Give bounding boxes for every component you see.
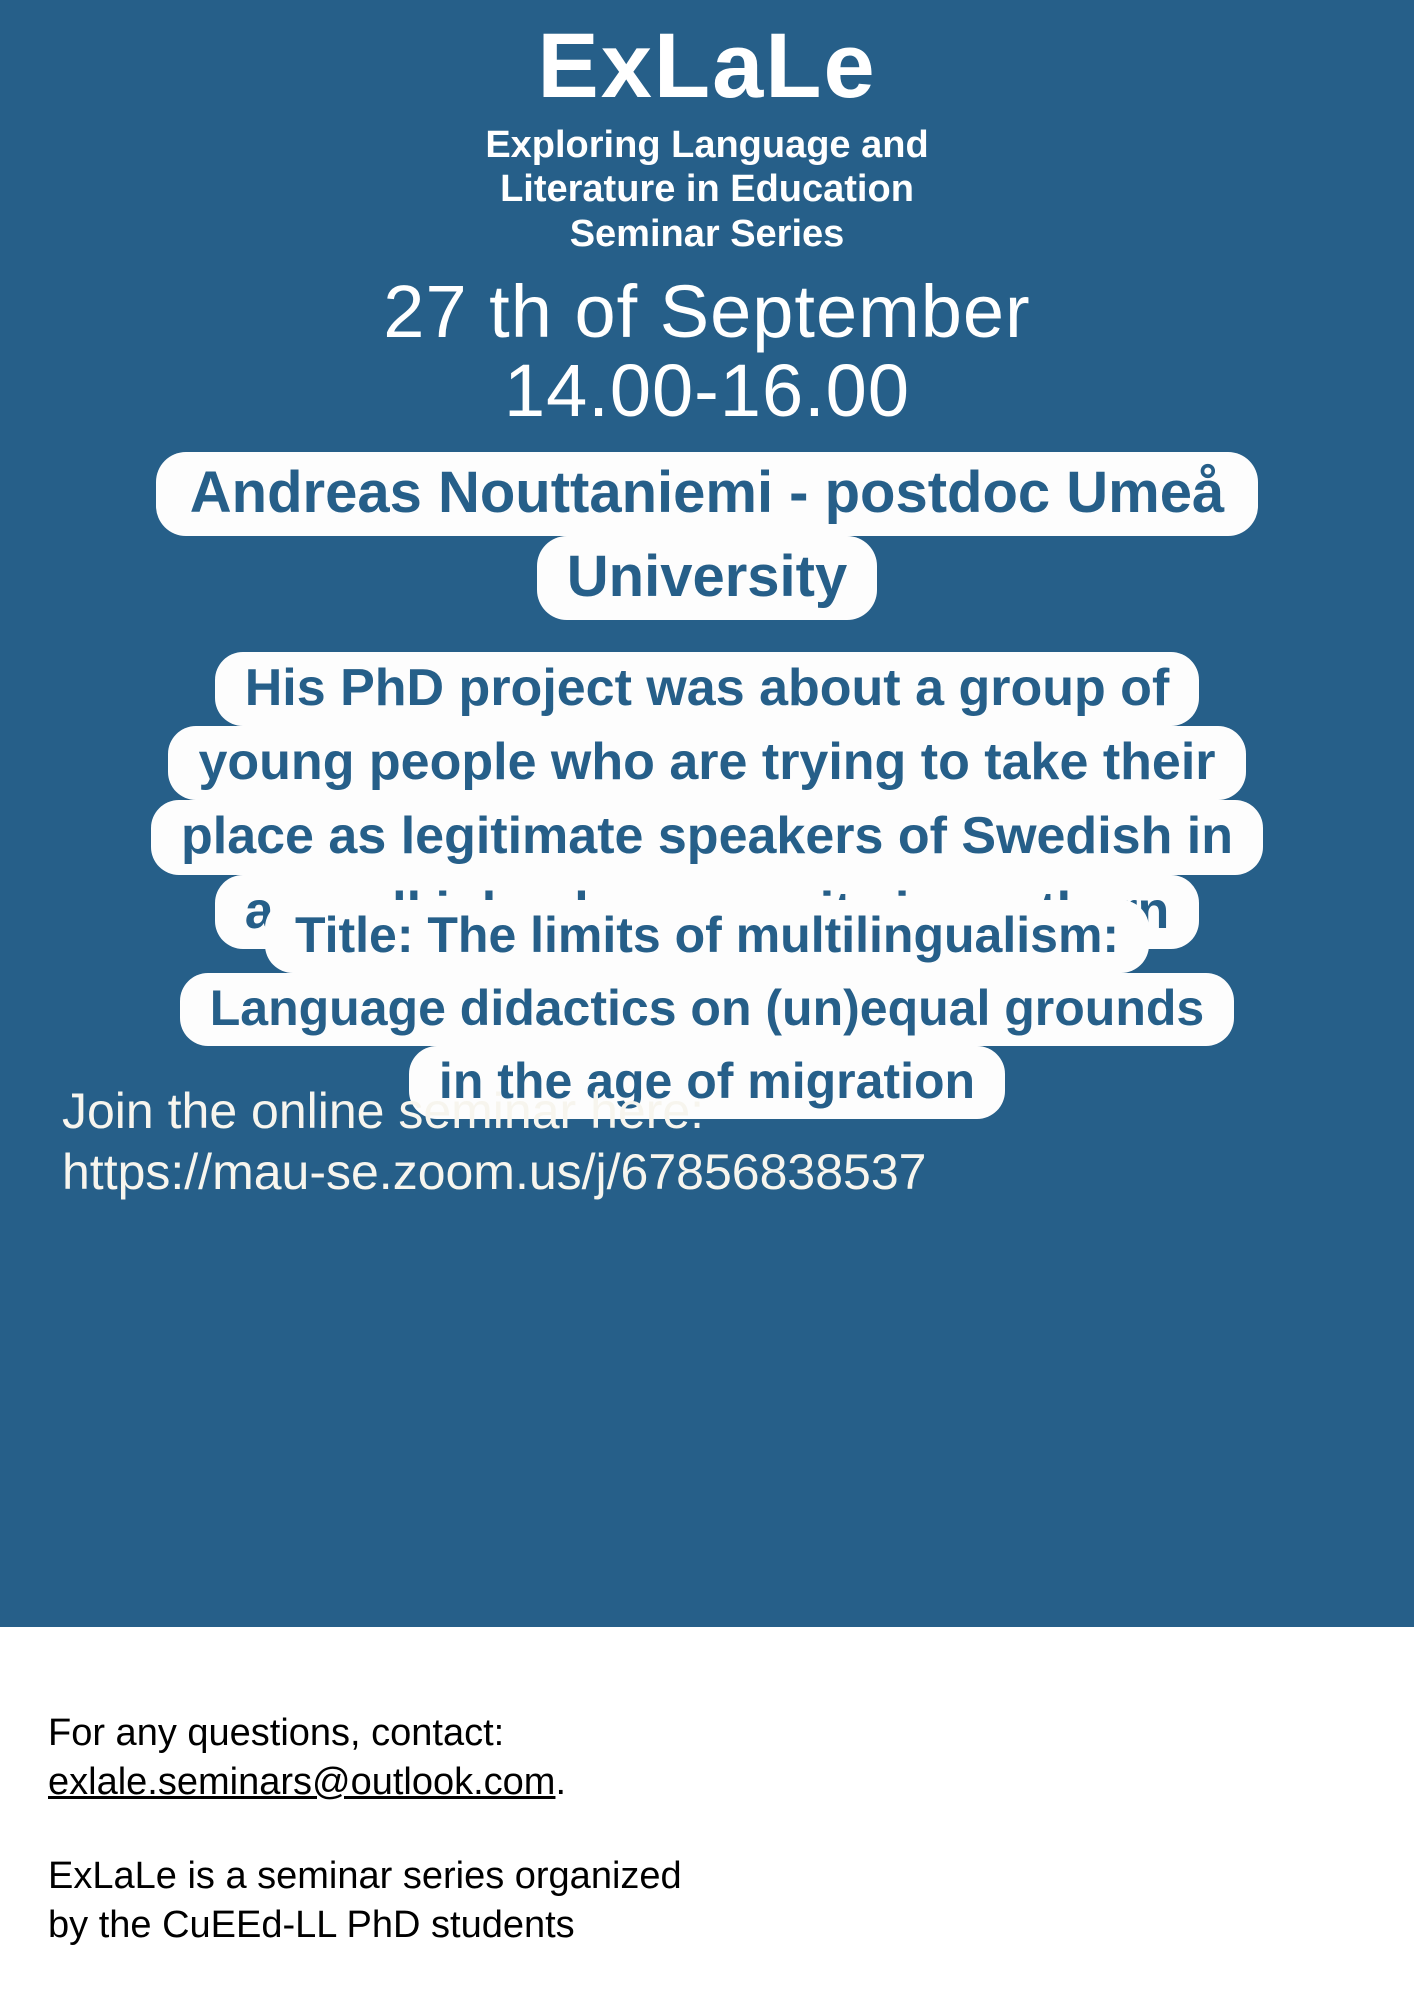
organizer-line-1: ExLaLe is a seminar series organized <box>48 1852 998 1901</box>
contact-label: For any questions, contact: <box>48 1709 998 1758</box>
brand-subtitle-line-1: Exploring Language and <box>40 123 1374 168</box>
contact-email-period: . <box>555 1761 566 1803</box>
contact-email-link[interactable]: exlale.seminars@outlook.com <box>48 1761 555 1803</box>
brand-title: ExLaLe <box>0 18 1414 115</box>
talk-title-line-1: Title: The limits of multilingualism: <box>0 900 1414 973</box>
abstract-line-1-text: His PhD project was about a group of <box>215 652 1200 726</box>
abstract-line-3: place as legitimate speakers of Swedish … <box>0 800 1414 874</box>
footer-text-block: For any questions, contact: exlale.semin… <box>48 1709 998 1951</box>
contact-email-line: exlale.seminars@outlook.com. <box>48 1758 998 1807</box>
event-date-time: 27 th of September 14.00-16.00 <box>0 273 1414 430</box>
event-date: 27 th of September <box>0 273 1414 351</box>
talk-title-line-1-text: Title: The limits of multilingualism: <box>265 900 1149 973</box>
speaker-line-1-text: Andreas Nouttaniemi - postdoc Umeå <box>156 452 1258 536</box>
brand-subtitle-line-2: Literature in Education <box>40 167 1374 212</box>
poster-canvas: ExLaLe Exploring Language and Literature… <box>0 0 1414 2000</box>
poster-header: ExLaLe Exploring Language and Literature… <box>0 0 1414 430</box>
speaker-line-2: University <box>0 536 1414 620</box>
speaker-line-1: Andreas Nouttaniemi - postdoc Umeå <box>0 452 1414 536</box>
abstract-line-2-text: young people who are trying to take thei… <box>168 726 1245 800</box>
event-time: 14.00-16.00 <box>0 352 1414 430</box>
abstract-line-2: young people who are trying to take thei… <box>0 726 1414 800</box>
poster-footer: For any questions, contact: exlale.semin… <box>0 1627 1414 2000</box>
speaker-line-2-text: University <box>537 536 877 620</box>
organizer-line-2: by the CuEEd-LL PhD students <box>48 1901 998 1950</box>
abstract-line-3-text: place as legitimate speakers of Swedish … <box>151 800 1263 874</box>
abstract-line-1: His PhD project was about a group of <box>0 652 1414 726</box>
brand-subtitle: Exploring Language and Literature in Edu… <box>0 123 1414 257</box>
talk-title-line-2-text: Language didactics on (un)equal grounds <box>180 973 1234 1046</box>
talk-title-line-2: Language didactics on (un)equal grounds <box>0 973 1414 1046</box>
brand-subtitle-line-3: Seminar Series <box>40 212 1374 257</box>
organizer-paragraph: ExLaLe is a seminar series organized by … <box>48 1852 998 1951</box>
join-seminar-block: Join the online seminar here: https://ma… <box>62 1081 1362 1203</box>
join-zoom-link[interactable]: https://mau-se.zoom.us/j/67856838537 <box>62 1142 1362 1203</box>
speaker-banner: Andreas Nouttaniemi - postdoc Umeå Unive… <box>0 452 1414 620</box>
contact-paragraph: For any questions, contact: exlale.semin… <box>48 1709 998 1808</box>
join-label: Join the online seminar here: <box>62 1081 1362 1142</box>
